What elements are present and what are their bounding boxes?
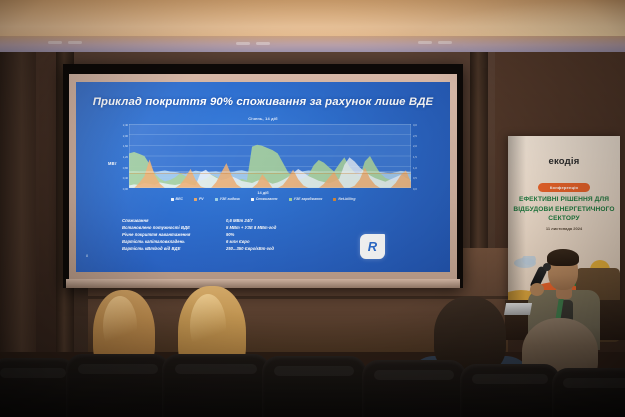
summary-row-key: Споживання (122, 218, 226, 223)
summary-table: Споживання0,6 МВт 24/7Встановлено потужн… (122, 218, 322, 253)
summary-row-4: Вартість капіталовкладень6 млн Євро (122, 239, 322, 244)
summary-row-2: Встановлено потужності ВДЕ5 МВт + УЗЕ 8 … (122, 225, 322, 230)
y-tick-label-right: 0,5 (413, 176, 417, 180)
legend-label: Net-billing (338, 197, 355, 201)
cove-light-strip (0, 40, 625, 46)
summary-row-value: 6 млн Євро (226, 239, 250, 244)
legend-swatch (251, 198, 254, 201)
y-tick-label: 0,80 (123, 166, 128, 170)
legend-item-6: Net-billing (333, 197, 355, 201)
legend-swatch (194, 198, 197, 201)
chart-plot-area (129, 124, 411, 188)
legend-swatch (171, 198, 174, 201)
y-tick-label-right: 3,0 (413, 123, 417, 127)
legend-swatch (333, 198, 336, 201)
chart-top-caption: Січень, 14 діб (88, 116, 438, 121)
legend-item-5: УЗЕ заряджання (289, 197, 323, 201)
summary-row-key: Вартість кВт/год від ВДЕ (122, 246, 226, 251)
y-tick-label: 1,20 (123, 155, 128, 159)
y-tick-label: 2,40 (123, 123, 128, 127)
legend-swatch (215, 198, 218, 201)
summary-row-3: Річне покриття навантаження90% (122, 232, 322, 237)
microphone-head (543, 263, 551, 271)
legend-label: УЗЕ видача (220, 197, 240, 201)
summary-row-1: Споживання0,6 МВт 24/7 (122, 218, 322, 223)
legend-item-4: Споживання (251, 197, 278, 201)
wall-seam (88, 296, 508, 299)
y-tick-label: 1,60 (123, 144, 128, 148)
y-tick-label-right: 1,5 (413, 155, 417, 159)
y-tick-label-right: 2,5 (413, 134, 417, 138)
summary-row-key: Вартість капіталовкладень (122, 239, 226, 244)
audience-chair-row (0, 350, 625, 417)
chair (0, 358, 76, 417)
projection-screen-bottom-bar (66, 279, 460, 288)
slide-page-number: 8 (86, 254, 88, 258)
chart-svg (129, 124, 411, 188)
legend-label: ВЕС (176, 197, 183, 201)
summary-row-value: 250...350 Євро/кВт·год (226, 246, 274, 251)
summary-row-5: Вартість кВт/год від ВДЕ250...350 Євро/к… (122, 246, 322, 251)
left-wall-pillar (0, 52, 36, 352)
chair (362, 360, 466, 417)
y-tick-label-right: 2,0 (413, 144, 417, 148)
chart-y-axis-ticks: 2,402,001,601,200,800,400,00 (115, 121, 128, 191)
chair (262, 356, 366, 417)
ceiling-light-glow (405, 0, 625, 40)
laptop-on-table (504, 303, 532, 315)
y-tick-label: 0,40 (123, 176, 128, 180)
chart-legend: ВЕСPVУЗЕ видачаСпоживанняУЗЕ заряджанняN… (88, 197, 438, 201)
summary-row-value: 0,6 МВт 24/7 (226, 218, 253, 223)
legend-swatch (289, 198, 292, 201)
banner-headline: ЕФЕКТИВНІ РІШЕННЯ ДЛЯ ВІДБУДОВИ ЕНЕРГЕТИ… (511, 195, 617, 224)
banner-badge-label: Конференція (550, 185, 578, 190)
banner-shadow (508, 136, 526, 326)
chart-x-axis-caption: 14 діб (88, 190, 438, 195)
legend-label: Споживання (256, 197, 278, 201)
speaker-hair (547, 249, 579, 266)
chair (552, 368, 625, 417)
y-tick-label-right: 1,0 (413, 166, 417, 170)
legend-label: PV (199, 197, 204, 201)
slide-logo: R (360, 234, 385, 259)
legend-item-1: ВЕС (171, 197, 183, 201)
chair (66, 354, 170, 417)
y-tick-label: 2,00 (123, 134, 128, 138)
chair (162, 354, 270, 417)
slide-logo-monogram: R (360, 234, 385, 259)
chair (460, 364, 560, 417)
projected-slide: Приклад покриття 90% споживання за рахун… (76, 82, 450, 272)
legend-item-3: УЗЕ видача (215, 197, 240, 201)
summary-row-key: Річне покриття навантаження (122, 232, 226, 237)
banner-badge: Конференція (538, 183, 590, 192)
chart-y-axis-ticks-right: 3,02,52,01,51,00,50,0 (413, 121, 429, 191)
legend-label: УЗЕ заряджання (294, 197, 323, 201)
slide-title: Приклад покриття 90% споживання за рахун… (90, 96, 436, 108)
conference-room-photo: Приклад покриття 90% споживання за рахун… (0, 0, 625, 417)
slide-chart: Січень, 14 діб МВт 2,402,001,601,200,800… (88, 116, 438, 208)
speaker-hand (530, 283, 544, 296)
summary-row-value: 5 МВт + УЗЕ 8 МВт·год (226, 225, 276, 230)
legend-item-2: PV (194, 197, 204, 201)
summary-row-key: Встановлено потужності ВДЕ (122, 225, 226, 230)
summary-row-value: 90% (226, 232, 234, 237)
